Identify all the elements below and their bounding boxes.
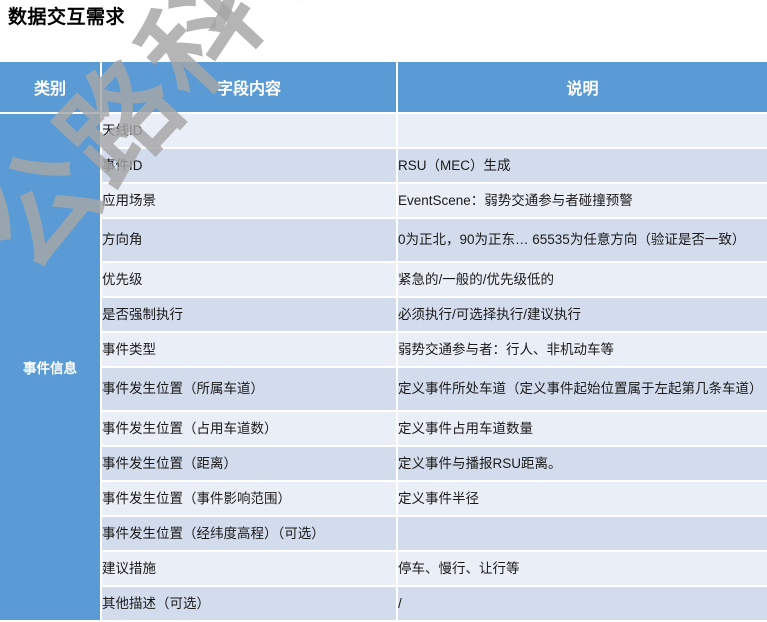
field-content-cell: 天线ID — [102, 114, 398, 147]
description-cell: 定义事件与播报RSU距离。 — [398, 447, 767, 480]
description-cell: 定义事件所处车道（定义事件起始位置属于左起第几条车道） — [398, 368, 767, 410]
table-row: 优先级紧急的/一般的/优先级低的 — [0, 263, 767, 296]
table-header-row: 类别 字段内容 说明 — [0, 62, 767, 112]
requirements-table: 类别 字段内容 说明 事件信息天线ID事件IDRSU（MEC）生成应用场景Eve… — [0, 60, 767, 622]
description-cell: 定义事件占用车道数量 — [398, 412, 767, 445]
description-cell: 紧急的/一般的/优先级低的 — [398, 263, 767, 296]
description-cell: 0为正北，90为正东… 65535为任意方向（验证是否一致） — [398, 219, 767, 261]
description-cell: 必须执行/可选择执行/建议执行 — [398, 298, 767, 331]
description-cell: / — [398, 587, 767, 620]
table-row: 事件类型弱势交通参与者：行人、非机动车等 — [0, 333, 767, 366]
page-title: 数据交互需求 — [8, 2, 125, 29]
field-content-cell: 其他描述（可选） — [102, 587, 398, 620]
description-cell: EventScene：弱势交通参与者碰撞预警 — [398, 184, 767, 217]
table-row: 事件发生位置（事件影响范围）定义事件半径 — [0, 482, 767, 515]
field-content-cell: 是否强制执行 — [102, 298, 398, 331]
description-cell — [398, 114, 767, 147]
field-content-cell: 事件发生位置（占用车道数） — [102, 412, 398, 445]
description-cell — [398, 517, 767, 550]
field-content-cell: 事件发生位置（经纬度高程）（可选） — [102, 517, 398, 550]
field-content-cell: 事件类型 — [102, 333, 398, 366]
table-row: 事件发生位置（所属车道）定义事件所处车道（定义事件起始位置属于左起第几条车道） — [0, 368, 767, 410]
table-row: 事件发生位置（经纬度高程）（可选） — [0, 517, 767, 550]
table-row: 方向角0为正北，90为正东… 65535为任意方向（验证是否一致） — [0, 219, 767, 261]
column-header-description: 说明 — [398, 62, 767, 112]
column-header-category: 类别 — [0, 62, 102, 112]
table-row: 事件发生位置（距离）定义事件与播报RSU距离。 — [0, 447, 767, 480]
field-content-cell: 应用场景 — [102, 184, 398, 217]
watermark-text-line1: 交通运输部 — [112, 0, 633, 54]
field-content-cell: 优先级 — [102, 263, 398, 296]
description-cell: 定义事件半径 — [398, 482, 767, 515]
category-cell-event-info: 事件信息 — [0, 114, 102, 620]
table-row: 是否强制执行必须执行/可选择执行/建议执行 — [0, 298, 767, 331]
table-row: 事件发生位置（占用车道数）定义事件占用车道数量 — [0, 412, 767, 445]
field-content-cell: 建议措施 — [102, 552, 398, 585]
table-row: 其他描述（可选）/ — [0, 587, 767, 620]
field-content-cell: 事件发生位置（事件影响范围） — [102, 482, 398, 515]
table-row: 应用场景EventScene：弱势交通参与者碰撞预警 — [0, 184, 767, 217]
data-interaction-requirements-table: 类别 字段内容 说明 事件信息天线ID事件IDRSU（MEC）生成应用场景Eve… — [0, 60, 767, 622]
table-row: 事件信息天线ID — [0, 114, 767, 147]
field-content-cell: 事件发生位置（距离） — [102, 447, 398, 480]
column-header-field: 字段内容 — [102, 62, 398, 112]
table-body: 事件信息天线ID事件IDRSU（MEC）生成应用场景EventScene：弱势交… — [0, 114, 767, 620]
description-cell: 弱势交通参与者：行人、非机动车等 — [398, 333, 767, 366]
description-cell: 停车、慢行、让行等 — [398, 552, 767, 585]
field-content-cell: 方向角 — [102, 219, 398, 261]
description-cell: RSU（MEC）生成 — [398, 149, 767, 182]
table-row: 事件IDRSU（MEC）生成 — [0, 149, 767, 182]
table-row: 建议措施停车、慢行、让行等 — [0, 552, 767, 585]
field-content-cell: 事件发生位置（所属车道） — [102, 368, 398, 410]
field-content-cell: 事件ID — [102, 149, 398, 182]
